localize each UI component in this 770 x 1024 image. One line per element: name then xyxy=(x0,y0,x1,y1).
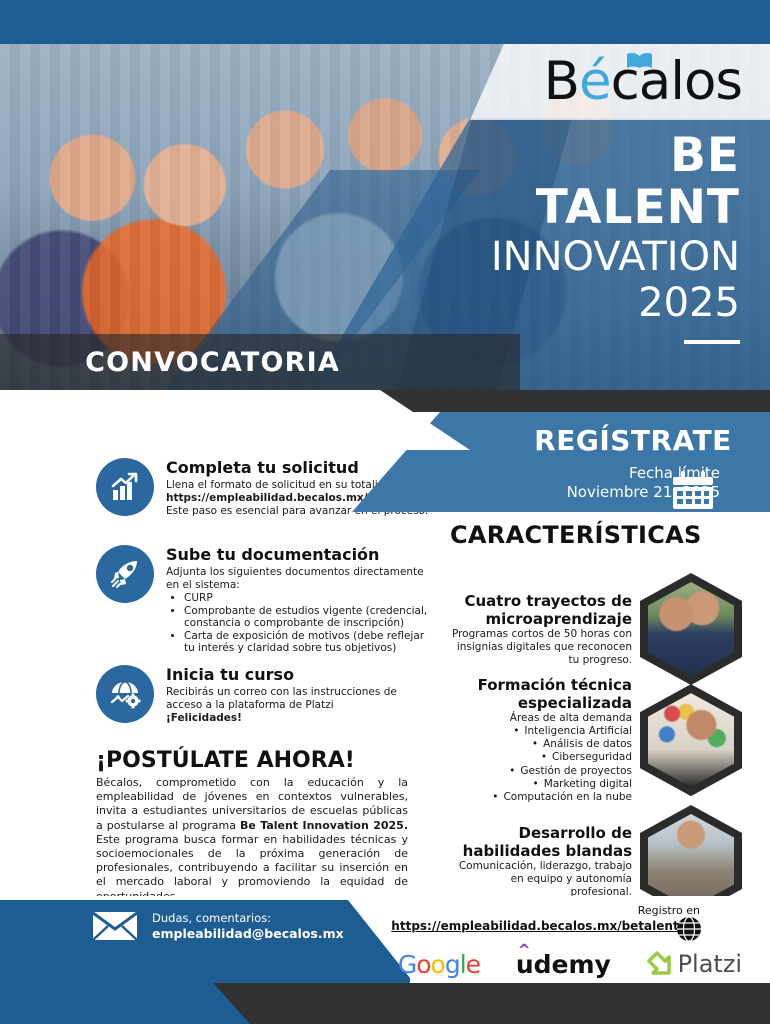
feature-item-3-title-line2: habilidades blandas xyxy=(450,842,632,860)
becalos-logo-b: B xyxy=(544,51,579,112)
platzi-mark-icon xyxy=(647,951,673,977)
hero-title-be: BE xyxy=(491,130,740,182)
list-item: Computación en la nube xyxy=(450,791,632,804)
footer-register-url[interactable]: https://empleabilidad.becalos.mx/betalen… xyxy=(390,919,680,933)
google-logo-e: e xyxy=(466,950,480,979)
process-step-2-line1: Adjunta los siguientes documentos direct… xyxy=(166,566,436,592)
feature-item-2-text: Formación técnica especializada Áreas de… xyxy=(450,676,640,804)
footer-register-label: Registro en xyxy=(400,904,700,917)
calendar-icon xyxy=(672,470,714,510)
becalos-logo-e: é xyxy=(579,51,611,112)
feature-item-1-body: Programas cortos de 50 horas con insigni… xyxy=(450,628,632,667)
google-logo-o1: o xyxy=(416,950,430,979)
footer-contact-label: Dudas, comentarios: xyxy=(152,911,344,926)
rocket-icon xyxy=(96,545,154,603)
hero-title-rule xyxy=(684,340,740,344)
feature-item-1-title-line1: Cuatro trayectos de xyxy=(450,592,632,610)
feature-item-3-text: Desarrollo de habilidades blandas Comuni… xyxy=(450,824,640,899)
process-step-3-title: Inicia tu curso xyxy=(166,665,436,685)
feature-item-2-title-line1: Formación técnica xyxy=(450,676,632,694)
feature-item-2-photo xyxy=(640,684,742,796)
apply-heading: ¡POSTÚLATE AHORA! xyxy=(96,748,355,773)
feature-item-2-title-line2: especializada xyxy=(450,694,632,712)
footer-contact-email[interactable]: empleabilidad@becalos.mx xyxy=(152,926,344,941)
feature-item-1: Cuatro trayectos de microaprendizaje Pro… xyxy=(450,573,742,685)
feature-item-1-title-line2: microaprendizaje xyxy=(450,610,632,628)
google-logo-g1: G xyxy=(398,950,416,979)
footer-partner-logos: Google ^udemy Platzi xyxy=(380,946,760,982)
list-item: Marketing digital xyxy=(450,778,632,791)
udemy-logo-caret: ^ xyxy=(518,941,531,959)
process-step-2-body: Sube tu documentación Adjunta los siguie… xyxy=(166,545,436,655)
process-step-2-title: Sube tu documentación xyxy=(166,545,436,565)
process-step-2-bullets: CURP Comprobante de estudios vigente (cr… xyxy=(184,592,436,655)
hero-title-talent: TALENT xyxy=(491,182,740,234)
globe-icon xyxy=(676,916,702,942)
feature-item-2-subtitle: Áreas de alta demanda xyxy=(450,712,632,725)
process-step-3-body: Inicia tu curso Recibirás un correo con … xyxy=(166,665,436,725)
list-item: Ciberseguridad xyxy=(450,751,632,764)
feature-item-1-photo xyxy=(640,573,742,685)
list-item: Inteligencia Artificial xyxy=(450,725,632,738)
list-item: Gestión de proyectos xyxy=(450,765,632,778)
hero-title-block: BE TALENT INNOVATION 2025 xyxy=(491,130,740,344)
hero-section: Bécalos BE TALENT INNOVATION 2025 CONVOC… xyxy=(0,0,770,398)
google-logo: Google xyxy=(398,950,480,979)
list-item: Análisis de datos xyxy=(450,738,632,751)
envelope-icon xyxy=(92,910,138,942)
process-step-3-line1: Recibirás un correo con las instruccione… xyxy=(166,686,436,712)
feature-item-2-bullets: Inteligencia Artificial Análisis de dato… xyxy=(450,725,632,804)
process-step-3: Inicia tu curso Recibirás un correo con … xyxy=(96,665,436,725)
convocatoria-band: CONVOCATORIA xyxy=(0,334,520,390)
convocatoria-label: CONVOCATORIA xyxy=(85,347,520,378)
becalos-book-icon xyxy=(626,52,653,69)
list-item: Carta de exposición de motivos (debe ref… xyxy=(184,630,436,655)
apply-paragraph: Bécalos, comprometido con la educación y… xyxy=(96,776,408,904)
apply-paragraph-bold: Be Talent Innovation 2025. xyxy=(240,819,408,832)
process-step-3-line2: ¡Felicidades! xyxy=(166,712,242,724)
process-step-2: Sube tu documentación Adjunta los siguie… xyxy=(96,545,436,655)
google-logo-o2: o xyxy=(431,950,445,979)
udemy-logo: ^udemy xyxy=(516,950,611,979)
footer-contact-text: Dudas, comentarios: empleabilidad@becalo… xyxy=(152,911,344,942)
hero-title-innovation: INNOVATION xyxy=(491,234,740,280)
feature-item-3-title-line1: Desarrollo de xyxy=(450,824,632,842)
platzi-logo: Platzi xyxy=(647,950,743,978)
hero-top-band xyxy=(0,0,770,44)
footer-contact: Dudas, comentarios: empleabilidad@becalo… xyxy=(92,910,344,942)
feature-item-3-body: Comunicación, liderazgo, trabajo en equi… xyxy=(450,860,632,899)
feature-item-2: Formación técnica especializada Áreas de… xyxy=(450,676,742,804)
list-item: CURP xyxy=(184,592,436,605)
hero-title-year: 2025 xyxy=(491,280,740,326)
google-logo-g2: g xyxy=(445,950,460,979)
growth-chart-icon xyxy=(96,458,154,516)
poster-root: Bécalos BE TALENT INNOVATION 2025 CONVOC… xyxy=(0,0,770,1024)
features-heading: CARACTERÍSTICAS xyxy=(450,521,702,549)
feature-item-1-text: Cuatro trayectos de microaprendizaje Pro… xyxy=(450,592,640,667)
register-heading: REGÍSTRATE xyxy=(508,424,758,457)
footer-blue-corner xyxy=(0,975,250,1024)
platzi-logo-text: Platzi xyxy=(678,950,743,978)
apply-paragraph-part2: Este programa busca formar en habilidade… xyxy=(96,833,408,903)
umbrella-gear-icon xyxy=(96,665,154,723)
list-item: Comprobante de estudios vigente (credenc… xyxy=(184,605,436,630)
